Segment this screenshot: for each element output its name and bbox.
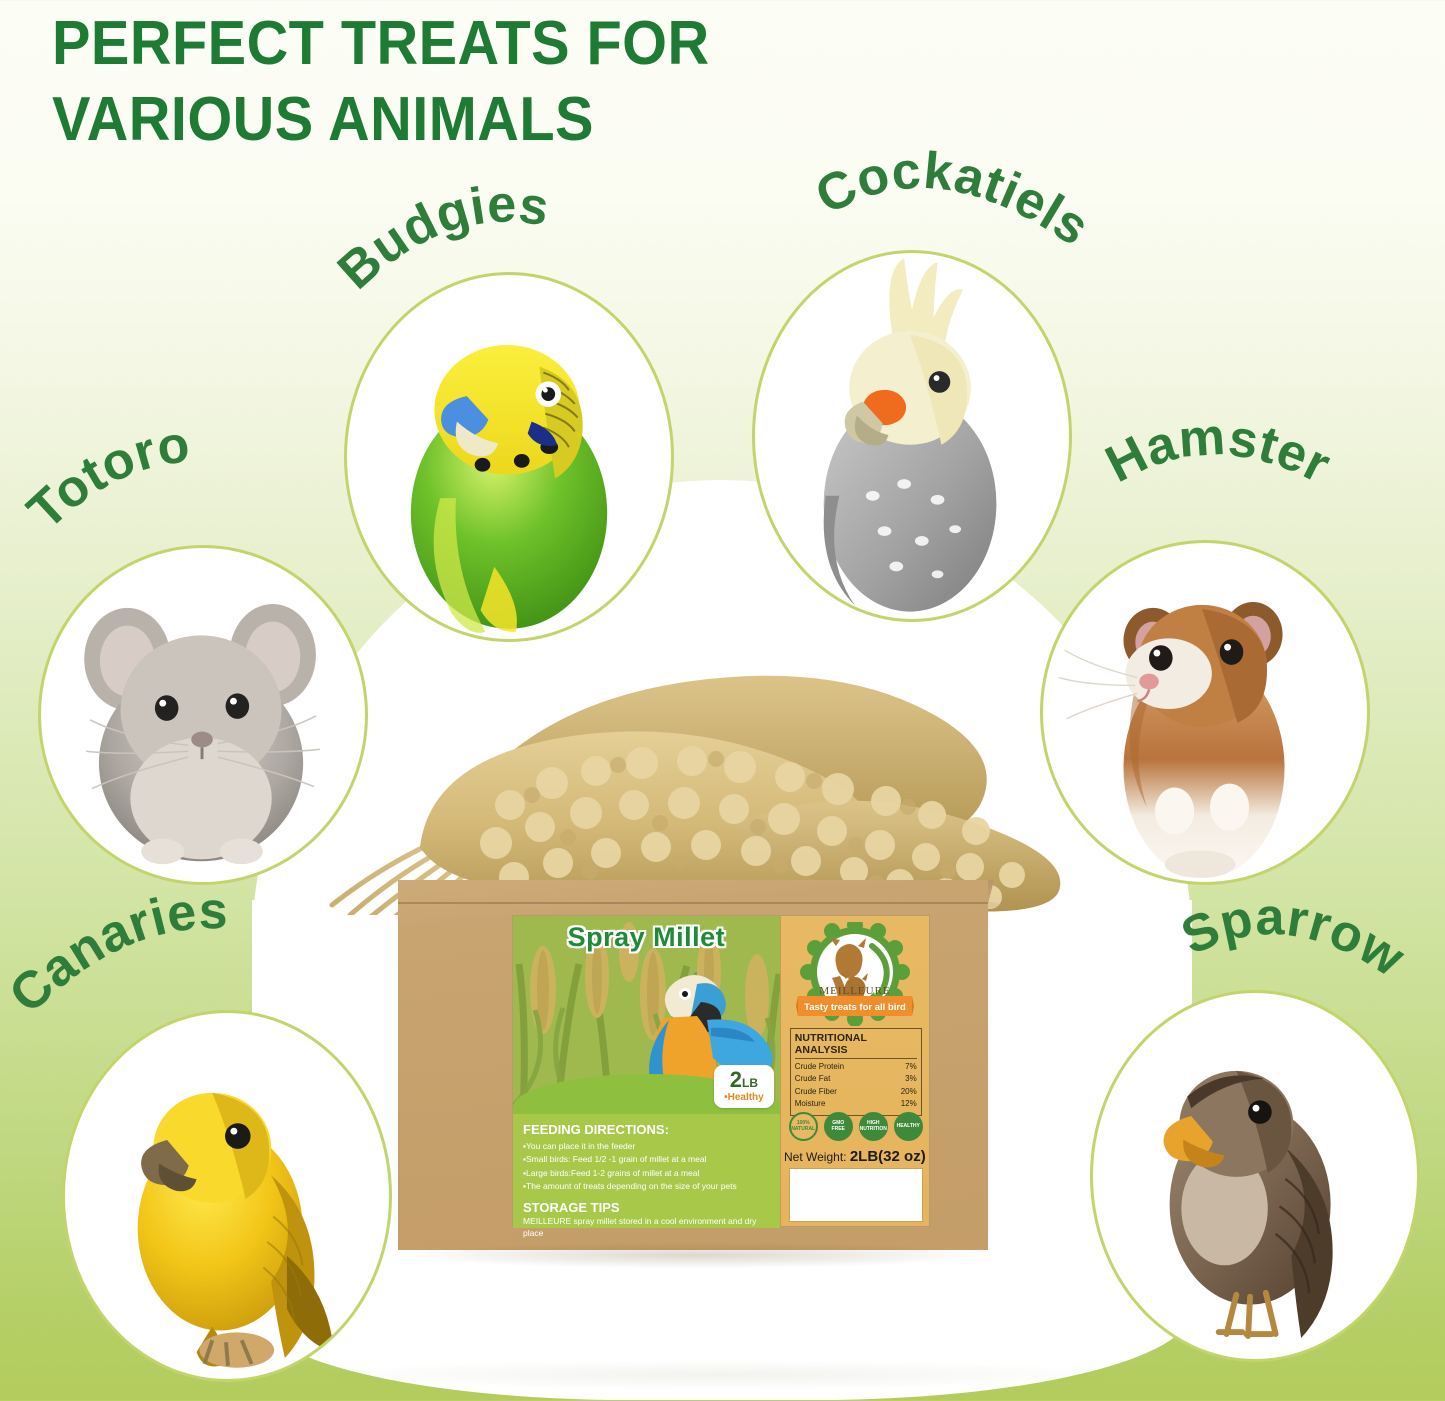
label-text-cockatiels: Cockatiels bbox=[807, 142, 1100, 258]
label-right-panel: MEILLEURE Tasty treats for all bird NUTR… bbox=[780, 916, 929, 1226]
nutrition-table: NUTRITIONAL ANALYSIS Crude Protein 7% Cr… bbox=[790, 1028, 922, 1116]
brand-name: MEILLEURE bbox=[819, 985, 890, 997]
cert-natural-icon: 100% NATURAL bbox=[789, 1112, 818, 1141]
label-blank-panel bbox=[789, 1168, 923, 1222]
weight-badge-number: 2 bbox=[730, 1067, 742, 1092]
feeding-directions-block: FEEDING DIRECTIONS: ▪You can place it in… bbox=[513, 1114, 780, 1228]
animal-photo-cockatiels bbox=[752, 250, 1072, 622]
feeding-direction-item: ▪The amount of treats depending on the s… bbox=[523, 1180, 770, 1193]
canary-illustration bbox=[65, 1010, 389, 1379]
budgerigar-illustration bbox=[347, 272, 671, 639]
net-weight: Net Weight: 2LB(32 oz) bbox=[781, 1148, 929, 1165]
label-left-panel: Spray Millet 2LB •Healthy FEEDING DIRECT… bbox=[513, 916, 780, 1226]
table-row: Crude Protein 7% bbox=[795, 1061, 917, 1073]
brand-seal: MEILLEURE Tasty treats for all bird bbox=[796, 922, 914, 1026]
page-title: PERFECT TREATS FOR VARIOUS ANIMALS bbox=[52, 6, 982, 157]
nutrient-name: Crude Fiber bbox=[795, 1086, 837, 1098]
cert-high-nutrition-icon: HIGH NUTRITION bbox=[859, 1112, 888, 1141]
brand-tagline: Tasty treats for all bird bbox=[804, 1002, 906, 1013]
brand-seal-graphic: MEILLEURE Tasty treats for all bird bbox=[796, 922, 914, 1026]
feeding-directions-heading: FEEDING DIRECTIONS: bbox=[523, 1122, 770, 1137]
millet-field-photo: Spray Millet 2LB •Healthy bbox=[513, 916, 780, 1114]
label-text-budgies: Budgies bbox=[327, 175, 553, 300]
cert-gmo-free-icon: GMO FREE bbox=[824, 1112, 853, 1141]
feeding-direction-item: ▪Large birds:Feed 1-2 grains of millet a… bbox=[523, 1167, 770, 1180]
nutrient-name: Crude Protein bbox=[795, 1061, 844, 1073]
nutrient-name: Crude Fat bbox=[795, 1073, 831, 1085]
product-label: Spray Millet 2LB •Healthy FEEDING DIRECT… bbox=[512, 915, 930, 1227]
weight-badge: 2LB •Healthy bbox=[714, 1065, 774, 1108]
certification-badges: 100% NATURAL GMO FREE HIGH NUTRITION HEA… bbox=[789, 1112, 923, 1141]
product-name: Spray Millet bbox=[513, 922, 780, 953]
animal-label-cockatiels: Cockatiels bbox=[820, 160, 1110, 295]
animal-label-hamster: Hamster bbox=[1112, 432, 1392, 557]
feeding-direction-item: ▪You can place it in the feeder bbox=[523, 1140, 770, 1153]
nutrient-value: 20% bbox=[901, 1086, 917, 1098]
table-row: Crude Fiber 20% bbox=[795, 1086, 917, 1098]
animal-photo-budgies bbox=[344, 272, 674, 642]
nutrition-heading: NUTRITIONAL ANALYSIS bbox=[795, 1032, 917, 1058]
headline-line-1: PERFECT TREATS FOR bbox=[52, 6, 982, 82]
nutrient-value: 7% bbox=[905, 1061, 917, 1073]
table-row: Moisture 12% bbox=[795, 1098, 917, 1110]
weight-badge-sub: •Healthy bbox=[724, 1093, 764, 1103]
cert-healthy-icon: HEALTHY bbox=[894, 1112, 923, 1141]
animal-photo-canaries bbox=[62, 1010, 392, 1382]
label-text-totoro: Totoro bbox=[17, 415, 193, 540]
net-weight-value: 2LB(32 oz) bbox=[850, 1148, 926, 1165]
storage-tips-heading: STORAGE TIPS bbox=[523, 1200, 770, 1215]
weight-badge-unit: LB bbox=[742, 1076, 758, 1090]
storage-tips-text: MEILLEURE spray millet stored in a cool … bbox=[523, 1215, 770, 1241]
label-text-hamster: Hamster bbox=[1097, 408, 1340, 495]
animal-label-totoro: Totoro bbox=[42, 440, 292, 555]
headline-line-2: VARIOUS ANIMALS bbox=[52, 82, 982, 158]
nutrient-value: 3% bbox=[905, 1073, 917, 1085]
box-shadow bbox=[404, 1242, 984, 1268]
feeding-direction-item: ▪Small birds: Feed 1/2 -1 grain of mille… bbox=[523, 1153, 770, 1166]
label-text-sparrow: Sparrow bbox=[1173, 888, 1414, 988]
hamster-illustration bbox=[1043, 540, 1367, 882]
label-text-canaries: Canaries bbox=[0, 882, 228, 1024]
sparrow-illustration bbox=[1093, 990, 1417, 1359]
millet-spray-pile bbox=[300, 655, 1090, 915]
table-row: Crude Fat 3% bbox=[795, 1073, 917, 1085]
nutrition-divider bbox=[795, 1058, 917, 1059]
ground-shadow bbox=[300, 1360, 1140, 1390]
nutrient-value: 12% bbox=[901, 1098, 917, 1110]
animal-photo-sparrow bbox=[1090, 990, 1420, 1362]
box-seam bbox=[398, 902, 988, 904]
nutrient-name: Moisture bbox=[795, 1098, 826, 1110]
animal-label-canaries: Canaries bbox=[20, 908, 290, 1033]
net-weight-label: Net Weight: bbox=[784, 1150, 846, 1164]
animal-label-budgies: Budgies bbox=[352, 196, 612, 311]
millet-illustration bbox=[300, 655, 1090, 915]
animal-label-sparrow: Sparrow bbox=[1186, 908, 1445, 1043]
cockatiel-illustration bbox=[755, 250, 1069, 619]
